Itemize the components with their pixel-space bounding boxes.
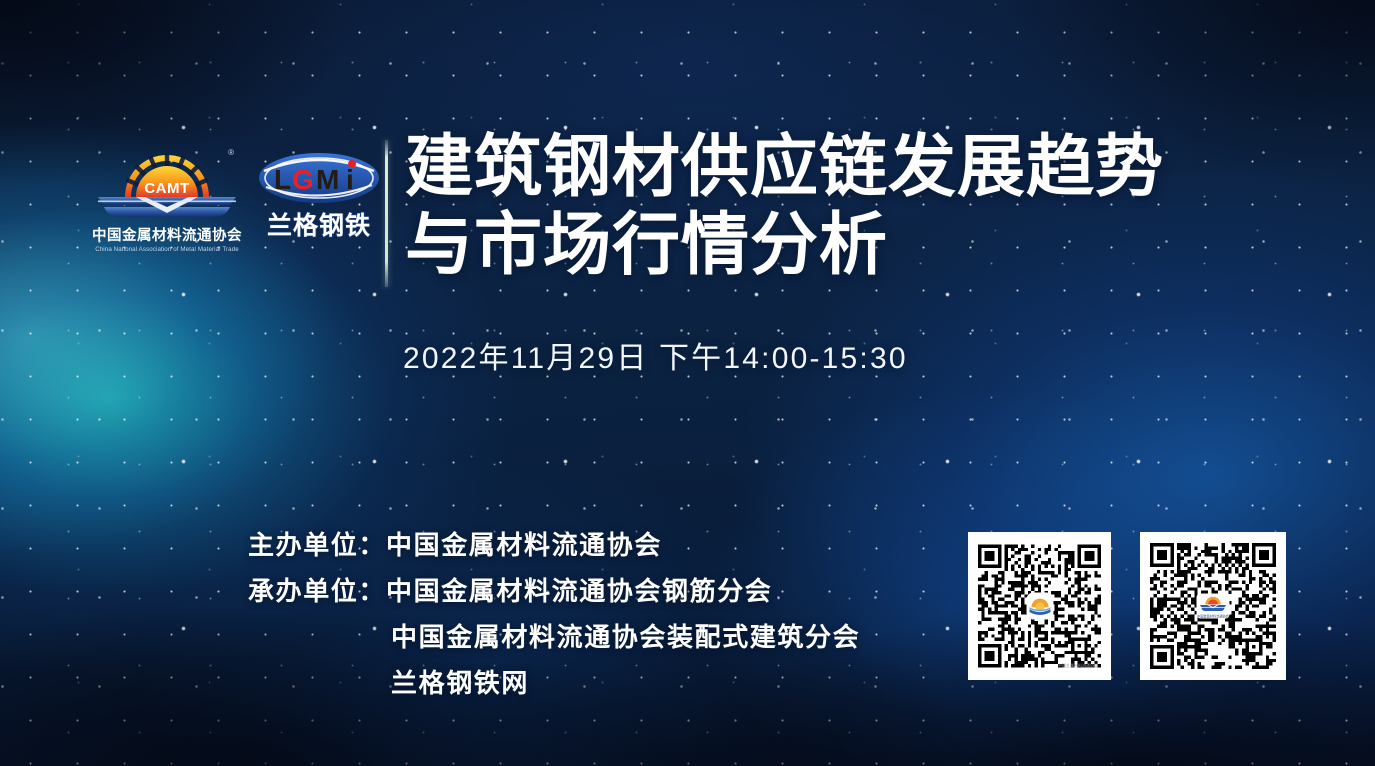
camt-emblem-icon: 中国金属材料流通协会	[1197, 594, 1230, 619]
organizer-line-coorg-1: 承办单位：中国金属材料流通协会钢筋分会	[248, 568, 860, 614]
svg-text:CAMT: CAMT	[144, 180, 189, 197]
qr-caption-left: 中国金属材料流通协会	[1058, 663, 1098, 669]
camt-english-name: China National Association of Metal Mate…	[92, 246, 242, 253]
registered-mark: ®	[228, 149, 234, 157]
qr-logo-caption-right: 中国金属材料流通协会	[1197, 615, 1229, 618]
organizer-block: 主办单位：中国金属材料流通协会 承办单位：中国金属材料流通协会钢筋分会 中国金属…	[248, 522, 860, 706]
camt-emblem-icon: CAMT ®	[92, 145, 242, 221]
poster-canvas: CAMT ® 中国金属材料流通协会 China Nationa	[0, 0, 1375, 766]
lgmi-chinese-name: 兰格钢铁	[256, 208, 382, 242]
wechat-qr-code-right[interactable]: 中国金属材料流通协会	[1140, 532, 1286, 680]
lgmi-emblem-icon: L G M i	[256, 147, 382, 207]
title-line-2: 与市场行情分析	[405, 206, 1164, 284]
header-divider	[385, 140, 388, 287]
svg-text:i: i	[346, 164, 354, 195]
svg-text:G: G	[292, 164, 314, 195]
camt-chinese-name: 中国金属材料流通协会	[92, 224, 242, 245]
logo-group: CAMT ® 中国金属材料流通协会 China Nationa	[92, 145, 382, 253]
title-line-1: 建筑钢材供应链发展趋势	[405, 128, 1164, 206]
organizer-line-coorg-3: 兰格钢铁网	[248, 660, 860, 706]
event-datetime: 2022年11月29日 下午14:00-15:30	[403, 333, 908, 377]
qr-matrix-right: 中国金属材料流通协会	[1150, 542, 1276, 670]
lgmi-logo: L G M i 兰格钢铁	[256, 147, 382, 242]
svg-text:L: L	[274, 164, 291, 195]
wechat-qr-code-left[interactable]: 中国金属材料流通协会	[968, 532, 1111, 680]
svg-text:兰格钢铁: 兰格钢铁	[267, 211, 371, 240]
organizer-line-host: 主办单位：中国金属材料流通协会	[248, 522, 860, 568]
svg-text:M: M	[316, 164, 339, 195]
organizer-line-coorg-2: 中国金属材料流通协会装配式建筑分会	[248, 614, 860, 660]
camt-sun-wave-icon	[1026, 593, 1053, 620]
poster-header: CAMT ® 中国金属材料流通协会 China Nationa	[0, 0, 1375, 300]
camt-logo: CAMT ® 中国金属材料流通协会 China Nationa	[92, 145, 242, 253]
page-title: 建筑钢材供应链发展趋势 与市场行情分析	[405, 128, 1164, 284]
qr-matrix-left: 中国金属材料流通协会	[978, 542, 1101, 670]
